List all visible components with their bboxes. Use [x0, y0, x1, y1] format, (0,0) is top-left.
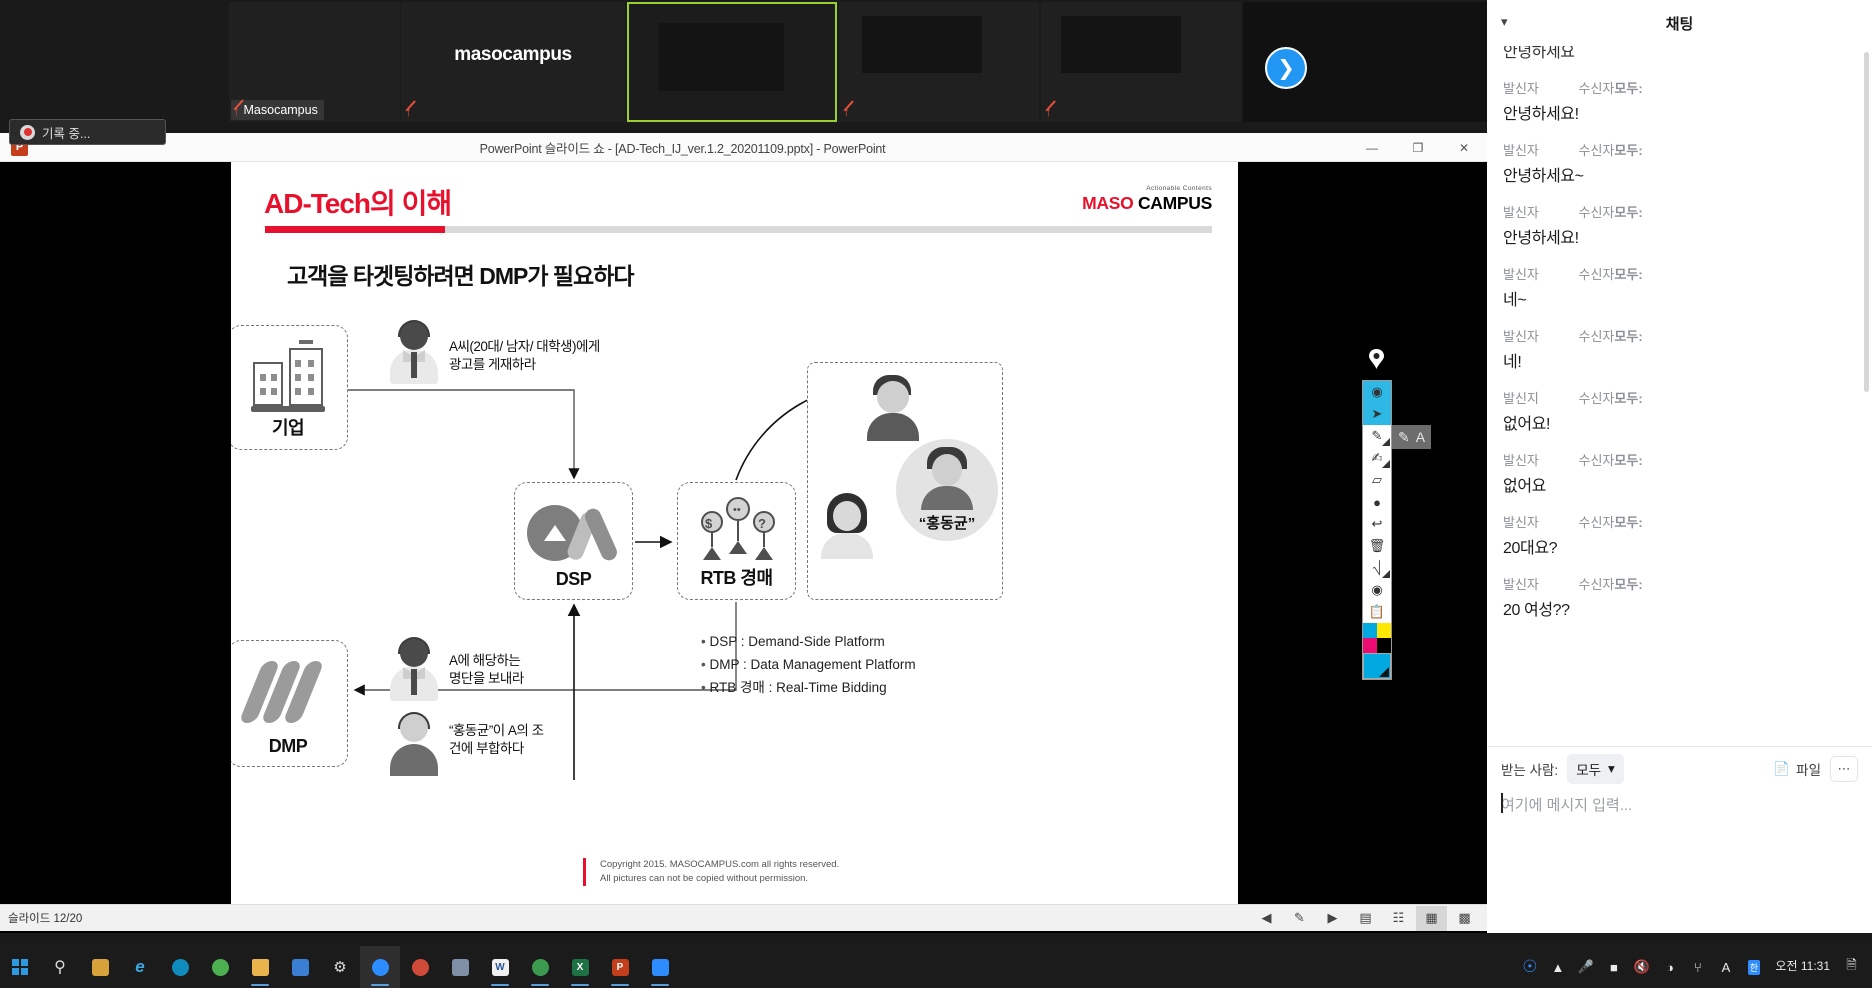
chat-message-text: 네!: [1503, 348, 1856, 372]
chrome-icon[interactable]: [200, 946, 240, 988]
window-title: PowerPoint 슬라이드 쇼 - [AD-Tech_IJ_ver.1.2_…: [28, 138, 1487, 157]
chat-message-text: 없어요!: [1503, 410, 1856, 434]
chat-recipient: 모두:: [1614, 143, 1642, 158]
powerpoint-window: P PowerPoint 슬라이드 쇼 - [AD-Tech_IJ_ver.1.…: [0, 133, 1487, 933]
node-dsp-label: DSP: [556, 569, 592, 599]
windows-taskbar: ⚲ e ⚙ W X P ☉ ▲ 🎤 ■ 🔇 ◑ ⑂ A 한: [0, 946, 1872, 988]
chat-recipient: 모두:: [1614, 577, 1642, 592]
dmp-icon: [249, 661, 321, 723]
chat-recipient: 모두:: [1614, 267, 1642, 282]
edge-legacy-icon[interactable]: e: [120, 946, 160, 988]
chat-message-list[interactable]: 안녕하세요 발신자 수신자모두: 안녕하세요! 발신자 수신자모두: 안녕하세요…: [1487, 46, 1872, 746]
callout-1-line2: 광고를 게재하라: [449, 356, 600, 374]
zoom-icon[interactable]: [360, 946, 400, 988]
pen-button[interactable]: ✎: [1284, 906, 1315, 931]
next-slide-button[interactable]: ▶: [1317, 906, 1348, 931]
paint-icon[interactable]: [400, 946, 440, 988]
mic-off-icon: ↑: [1045, 104, 1052, 119]
windows-start-icon[interactable]: [0, 946, 40, 988]
person-avatar-3: [386, 714, 442, 776]
chat-panel: ▾ 채팅 안녕하세요 발신자 수신자모두: 안녕하세요! 발신자 수신자모두: …: [1487, 0, 1872, 933]
chat-message-meta: 발신자 수신자모두:: [1503, 264, 1856, 283]
recipient-select[interactable]: 모두 ▾: [1567, 754, 1624, 784]
copyright-line2: All pictures can not be copied without p…: [600, 872, 839, 886]
node-dmp[interactable]: DMP: [231, 640, 348, 767]
file-button[interactable]: 📄 파일: [1773, 759, 1821, 779]
ellipsis-icon: ⋯: [1838, 761, 1851, 777]
chat-message: 발신자 수신자모두: 네~: [1503, 264, 1856, 310]
filmstrip-tile-active-speaker[interactable]: [627, 2, 837, 122]
record-dot-icon: [20, 125, 35, 140]
swatch-cyan[interactable]: [1363, 623, 1377, 638]
person-avatar-1: [386, 322, 442, 384]
dot-icon[interactable]: ●: [1363, 491, 1391, 513]
chat-sender: 발신자: [1503, 329, 1539, 344]
settings-icon[interactable]: ⚙: [320, 946, 360, 988]
chat-message-meta: 발신자 수신자모두:: [1503, 202, 1856, 221]
word-icon[interactable]: W: [480, 946, 520, 988]
chat-message-text: 안녕하세요!: [1503, 224, 1856, 248]
laser-pointer-icon[interactable]: ➤: [1363, 403, 1391, 425]
callout-2-line2: 명단을 보내라: [449, 670, 524, 688]
chat-message: 발신지 수신자모두: 없어요!: [1503, 388, 1856, 434]
highlighted-user-name: “홍동균”: [896, 512, 998, 533]
slideshow-stage: AD-Tech의 이해 Actionable Contents MASO CAM…: [0, 162, 1487, 904]
swatch-black[interactable]: [1377, 638, 1391, 653]
chat-message: 안녕하세요: [1503, 46, 1856, 62]
filmstrip-tile-5[interactable]: ↑: [1041, 2, 1241, 122]
excel-icon[interactable]: X: [560, 946, 600, 988]
notepad-icon[interactable]: [440, 946, 480, 988]
color-palette[interactable]: [1363, 623, 1391, 653]
chat-sender: 발신자: [1503, 453, 1539, 468]
camera-icon[interactable]: ◉: [1363, 579, 1391, 601]
clipboard-icon[interactable]: 📋: [1363, 601, 1391, 623]
chat-recipient: 모두:: [1614, 205, 1642, 220]
text-tool-icon[interactable]: A: [1416, 429, 1425, 445]
mic-off-icon: ↑: [233, 103, 240, 118]
notes-button[interactable]: ▩: [1449, 906, 1480, 931]
chat-input[interactable]: 여기에 메시지 입력...: [1487, 791, 1872, 815]
highlighted-user-circle: “홍동균”: [896, 439, 998, 541]
chevron-down-icon: ▾: [1608, 761, 1615, 777]
filmstrip-tile-masocampus-word[interactable]: masocampus ↑: [401, 2, 625, 122]
chat-scrollbar[interactable]: [1864, 52, 1869, 392]
bluetooth-icon[interactable]: ⑂: [1685, 946, 1710, 988]
powerpoint-status-bar: 슬라이드 12/20 ◀ ✎ ▶ ▤ ☷ ▦ ▩: [0, 904, 1487, 931]
undo-icon[interactable]: ↩: [1363, 513, 1391, 535]
action-center-icon[interactable]: 🗎: [1839, 946, 1864, 988]
search-icon[interactable]: ⚲: [40, 946, 80, 988]
node-dsp[interactable]: DSP: [514, 482, 633, 600]
video-frame: [659, 23, 784, 91]
chat-sender: 발신지: [1503, 391, 1539, 406]
chat-message: 발신자 수신자모두: 안녕하세요~: [1503, 140, 1856, 186]
chat-message-meta: 발신자 수신자모두:: [1503, 140, 1856, 159]
minimize-button[interactable]: —: [1349, 133, 1395, 162]
slide-canvas[interactable]: AD-Tech의 이해 Actionable Contents MASO CAM…: [231, 162, 1238, 904]
bullet-dsp: DSP : Demand-Side Platform: [701, 630, 916, 653]
callout-2: A에 해당하는 명단을 보내라: [449, 652, 524, 688]
chat-message-meta: 발신자 수신자모두:: [1503, 326, 1856, 345]
chat-recipient-label: 수신자: [1579, 81, 1615, 96]
chat-message-text: 안녕하세요~: [1503, 162, 1856, 186]
normal-view-button[interactable]: ▦: [1416, 906, 1447, 931]
recipient-select-value: 모두: [1576, 759, 1601, 779]
chat-message-text: 없어요: [1503, 472, 1856, 496]
bullet-rtb: RTB 경매 : Real-Time Bidding: [701, 676, 916, 699]
clock-time: 11:31: [1801, 959, 1830, 973]
chat-sender: 발신자: [1503, 267, 1539, 282]
chat-sender: 발신자: [1503, 515, 1539, 530]
chat-message: 발신자 수신자모두: 네!: [1503, 326, 1856, 372]
chat-message-meta: 발신자 수신자모두:: [1503, 450, 1856, 469]
chat-message: 발신자 수신자모두: 없어요: [1503, 450, 1856, 496]
status-buttons: ◀ ✎ ▶ ▤ ☷ ▦ ▩: [1251, 906, 1487, 931]
person-avatar-2: [386, 639, 442, 701]
chat-title: 채팅: [1666, 13, 1694, 34]
building-icon: [253, 344, 325, 412]
chat-recipient-label: 수신자: [1579, 205, 1615, 220]
chat-message-meta: 발신자 수신자모두:: [1503, 512, 1856, 531]
chat-recipient-label: 수신자: [1579, 577, 1615, 592]
chat-recipient-label: 수신자: [1579, 515, 1615, 530]
recording-indicator[interactable]: 기록 중...: [9, 119, 166, 145]
person-avatar-highlighted: [918, 447, 976, 513]
zoom-video-filmstrip: MASO CAMPUS Actionable Content ↑ Masocam…: [0, 0, 1487, 124]
video-frame: [862, 16, 982, 73]
node-users-panel[interactable]: “홍동균”: [807, 362, 1003, 600]
mic-off-icon: ↑: [843, 104, 850, 119]
help-circle-icon[interactable]: ☉: [1517, 946, 1542, 988]
file-explorer-icon[interactable]: [240, 946, 280, 988]
node-rtb[interactable]: $ ? •• RTB 경매: [677, 482, 796, 600]
more-options-button[interactable]: ⋯: [1830, 756, 1858, 782]
eye-icon[interactable]: ◉: [1363, 381, 1391, 403]
text-caret: [1501, 793, 1503, 813]
chat-recipient: 모두:: [1614, 515, 1642, 530]
slide-sorter-button[interactable]: ☷: [1383, 906, 1414, 931]
chat-sender: 발신자: [1503, 143, 1539, 158]
trash-icon[interactable]: 🗑: [1363, 535, 1391, 557]
chevron-up-icon[interactable]: ▲: [1545, 946, 1570, 988]
copyright-notice: Copyright 2015. MASOCAMPUS.com all right…: [583, 858, 839, 886]
pencil-icon[interactable]: ✍: [1363, 447, 1391, 469]
callout-2-line1: A에 해당하는: [449, 652, 524, 670]
swatch-yellow[interactable]: [1377, 623, 1391, 638]
screen: MASO CAMPUS Actionable Content ↑ Masocam…: [0, 0, 1872, 988]
chat-sender: 발신자: [1503, 577, 1539, 592]
current-color-swatch[interactable]: [1363, 653, 1391, 679]
filmstrip-tile-0[interactable]: [0, 2, 228, 122]
zoom2-icon[interactable]: [640, 946, 680, 988]
chat-message-text: 안녕하세요!: [1503, 100, 1856, 124]
chat-message-text: 20대요?: [1503, 534, 1856, 558]
file-label: 파일: [1796, 759, 1821, 779]
powerpoint-icon[interactable]: P: [600, 946, 640, 988]
chat-message: 발신자 수신자모두: 20대요?: [1503, 512, 1856, 558]
glossary-bullets: DSP : Demand-Side Platform DMP : Data Ma…: [701, 630, 916, 700]
edge-icon[interactable]: [160, 946, 200, 988]
chat-recipient-label: 수신자: [1579, 329, 1615, 344]
recipient-label: 받는 사람:: [1501, 759, 1558, 779]
chat-recipient: 모두:: [1614, 453, 1642, 468]
close-button[interactable]: ✕: [1441, 133, 1487, 162]
taskbar-clock[interactable]: 오전 11:31: [1769, 960, 1836, 974]
filmstrip-tile-masocampus[interactable]: MASO CAMPUS Actionable Content ↑ Masocam…: [229, 2, 400, 122]
clock-ampm: 오전: [1775, 959, 1797, 973]
chat-recipient: 모두:: [1614, 81, 1642, 96]
tool-flyout-menu[interactable]: ✎ A: [1392, 425, 1431, 449]
reading-view-button[interactable]: ▤: [1350, 906, 1381, 931]
highlighter-icon[interactable]: ✎: [1363, 425, 1391, 447]
mic-icon[interactable]: 🎤: [1573, 946, 1598, 988]
node-rtb-label: RTB 경매: [700, 564, 772, 599]
chat-footer: 받는 사람: 모두 ▾ 📄 파일 ⋯ 여기에 메시지 입력...: [1487, 746, 1872, 933]
chat-recipient-label: 수신자: [1579, 453, 1615, 468]
participant-name: Masocampus: [244, 103, 318, 117]
copyright-line1: Copyright 2015. MASOCAMPUS.com all right…: [600, 858, 839, 872]
slide-number-label: 슬라이드 12/20: [8, 910, 82, 926]
swatch-magenta[interactable]: [1363, 638, 1377, 653]
eraser-icon[interactable]: ▱: [1363, 469, 1391, 491]
whiteboard-icon[interactable]: ⎷: [1363, 557, 1391, 579]
restore-button[interactable]: ❐: [1395, 133, 1441, 162]
person-avatar-male: [863, 375, 923, 441]
store-icon[interactable]: [280, 946, 320, 988]
system-tray: ☉ ▲ 🎤 ■ 🔇 ◑ ⑂ A 한 오전 11:31 🗎: [1517, 946, 1872, 988]
chat-recipient-label: 수신자: [1579, 391, 1615, 406]
chat-message: 발신자 수신자모두: 안녕하세요!: [1503, 78, 1856, 124]
wifi-icon[interactable]: ◑: [1657, 946, 1682, 988]
callout-1-line1: A씨(20대/ 남자/ 대학생)에게: [449, 338, 600, 356]
chat-message-text: 20 여성??: [1503, 596, 1856, 620]
node-dmp-label: DMP: [269, 736, 308, 766]
node-company-label: 기업: [272, 414, 304, 449]
chat-input-placeholder: 여기에 메시지 입력...: [1501, 797, 1632, 814]
chat-recipient-row: 받는 사람: 모두 ▾ 📄 파일 ⋯: [1487, 747, 1872, 791]
recording-label: 기록 중...: [42, 123, 90, 142]
chevron-down-icon[interactable]: ▾: [1501, 14, 1508, 30]
ime-icon[interactable]: A: [1713, 946, 1738, 988]
annotation-toolbar[interactable]: ◉ ➤ ✎ ✍ ▱ ● ↩ 🗑 ⎷ ◉ 📋 ✎ A: [1362, 380, 1392, 680]
chat-message-meta: 발신자 수신자모두:: [1503, 78, 1856, 97]
chat-sender: 발신자: [1503, 81, 1539, 96]
chat-recipient-label: 수신자: [1579, 267, 1615, 282]
task-view-icon[interactable]: [80, 946, 120, 988]
mic-off-icon: ↑: [405, 104, 412, 119]
bullet-dmp: DMP : Data Management Platform: [701, 653, 916, 676]
filmstrip-tile-4[interactable]: ↑: [839, 2, 1039, 122]
taskbar-apps: ⚲ e ⚙ W X P: [0, 946, 680, 988]
prev-slide-button[interactable]: ◀: [1251, 906, 1282, 931]
chat-message: 발신자 수신자모두: 20 여성??: [1503, 574, 1856, 620]
chrome2-icon[interactable]: [520, 946, 560, 988]
powerpoint-titlebar[interactable]: P PowerPoint 슬라이드 쇼 - [AD-Tech_IJ_ver.1.…: [0, 133, 1487, 162]
pen-cursor-icon: [1367, 348, 1386, 370]
window-controls: — ❐ ✕: [1349, 133, 1487, 162]
chat-recipient-label: 수신자: [1579, 143, 1615, 158]
video-frame: [1061, 16, 1181, 73]
keyboard-icon[interactable]: 한: [1741, 946, 1766, 988]
volume-mute-icon[interactable]: 🔇: [1629, 946, 1654, 988]
chat-header: ▾ 채팅: [1487, 0, 1872, 46]
callout-3-line1: “홍동균”이 A의 조: [449, 722, 544, 740]
chat-recipient: 모두:: [1614, 391, 1642, 406]
participant-word-mark: masocampus: [401, 44, 625, 66]
chat-message-meta: 발신지 수신자모두:: [1503, 388, 1856, 407]
chat-sender: 발신자: [1503, 205, 1539, 220]
person-avatar-female: [818, 493, 876, 559]
node-company[interactable]: 기업: [231, 325, 348, 450]
dsp-logo-icon: [527, 503, 623, 563]
file-icon: 📄: [1773, 761, 1790, 777]
chat-message-text: 안녕하세요: [1503, 46, 1856, 62]
rtb-auction-icon: $ ? ••: [700, 497, 776, 569]
filmstrip-next-button[interactable]: ❯: [1265, 47, 1307, 89]
callout-1: A씨(20대/ 남자/ 대학생)에게 광고를 게재하라: [449, 338, 600, 374]
chat-message-meta: 발신자 수신자모두:: [1503, 574, 1856, 593]
participant-name-pill: ↑ Masocampus: [231, 100, 324, 120]
battery-icon[interactable]: ■: [1601, 946, 1626, 988]
chat-recipient: 모두:: [1614, 329, 1642, 344]
callout-3: “홍동균”이 A의 조 건에 부합하다: [449, 722, 544, 758]
chat-message-text: 네~: [1503, 286, 1856, 310]
highlighter-icon[interactable]: ✎: [1398, 429, 1410, 446]
chat-message: 발신자 수신자모두: 안녕하세요!: [1503, 202, 1856, 248]
callout-3-line2: 건에 부합하다: [449, 740, 544, 758]
